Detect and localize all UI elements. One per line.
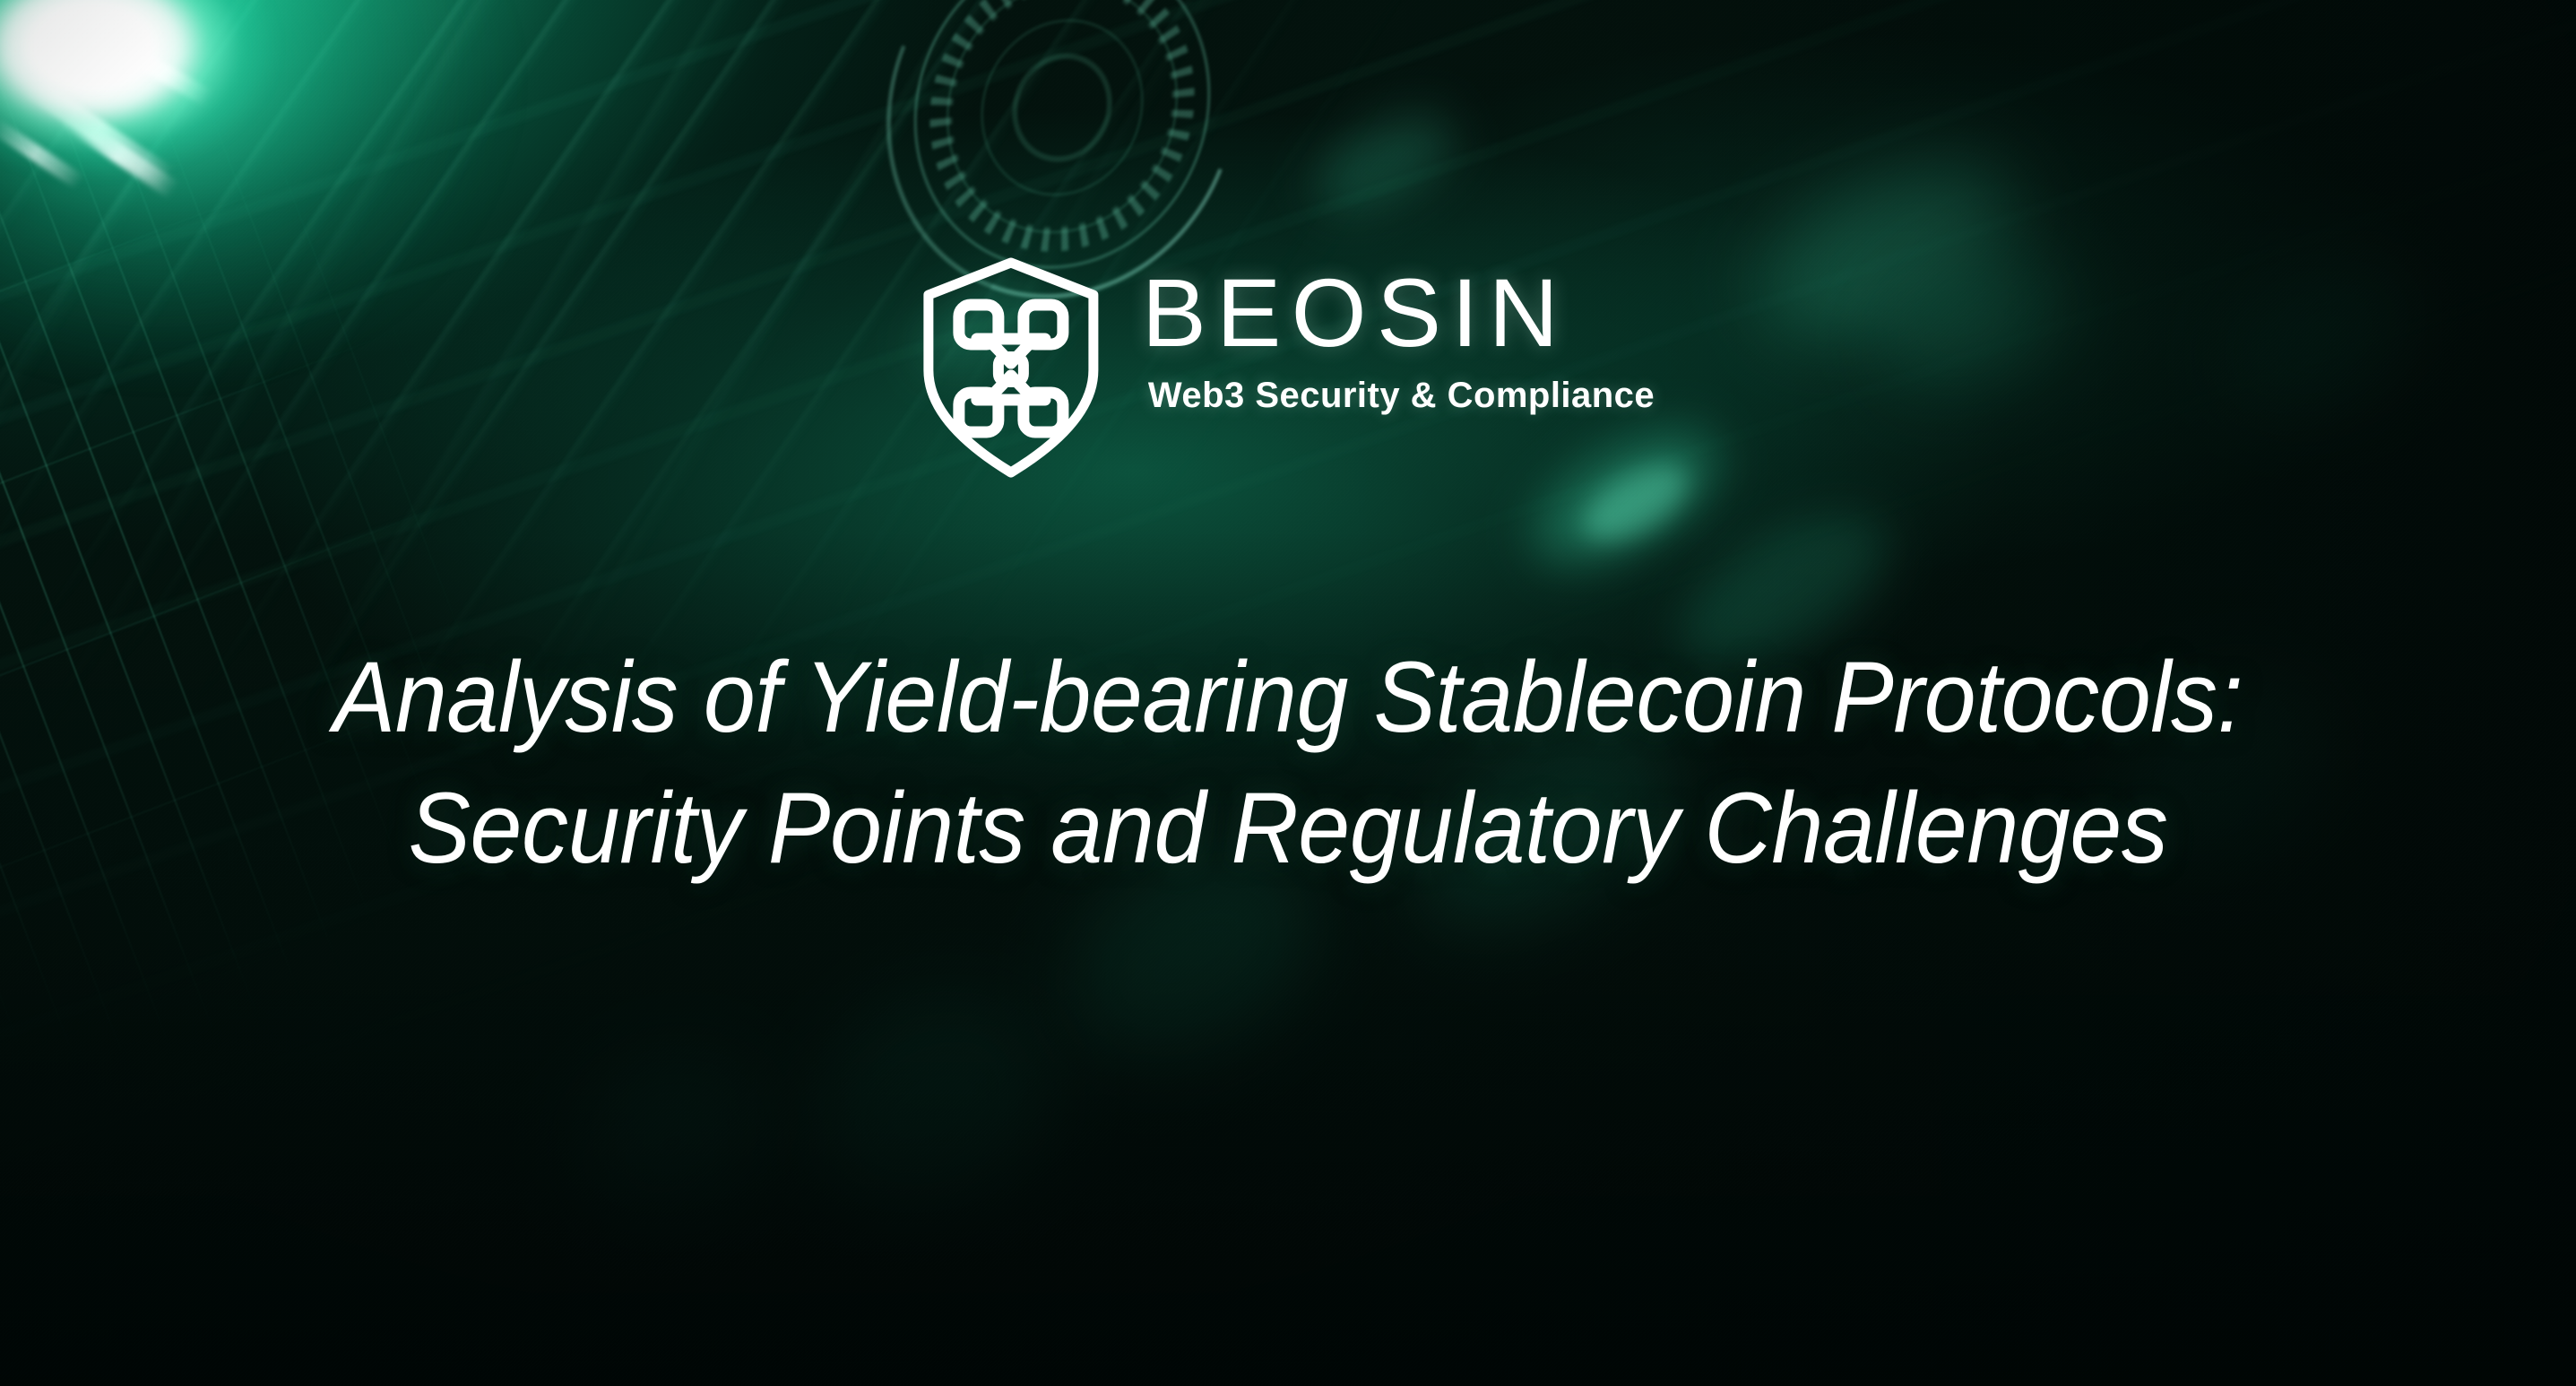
brand-wordmark: BEOSIN Web3 Security & Compliance xyxy=(1142,256,1655,413)
banner-root: BEOSIN Web3 Security & Compliance Analys… xyxy=(0,0,2576,1386)
headline-title: Analysis of Yield-bearing Stablecoin Pro… xyxy=(78,632,2498,893)
brand-name: BEOSIN xyxy=(1142,264,1655,361)
brand-logo-lockup: BEOSIN Web3 Security & Compliance xyxy=(921,256,1655,480)
headline-line-1: Analysis of Yield-bearing Stablecoin Pro… xyxy=(163,632,2414,763)
banner-content: BEOSIN Web3 Security & Compliance Analys… xyxy=(0,0,2576,1386)
beosin-shield-node-logo-icon xyxy=(921,256,1101,480)
brand-tagline: Web3 Security & Compliance xyxy=(1148,377,1655,413)
headline-line-2: Security Points and Regulatory Challenge… xyxy=(163,763,2414,894)
